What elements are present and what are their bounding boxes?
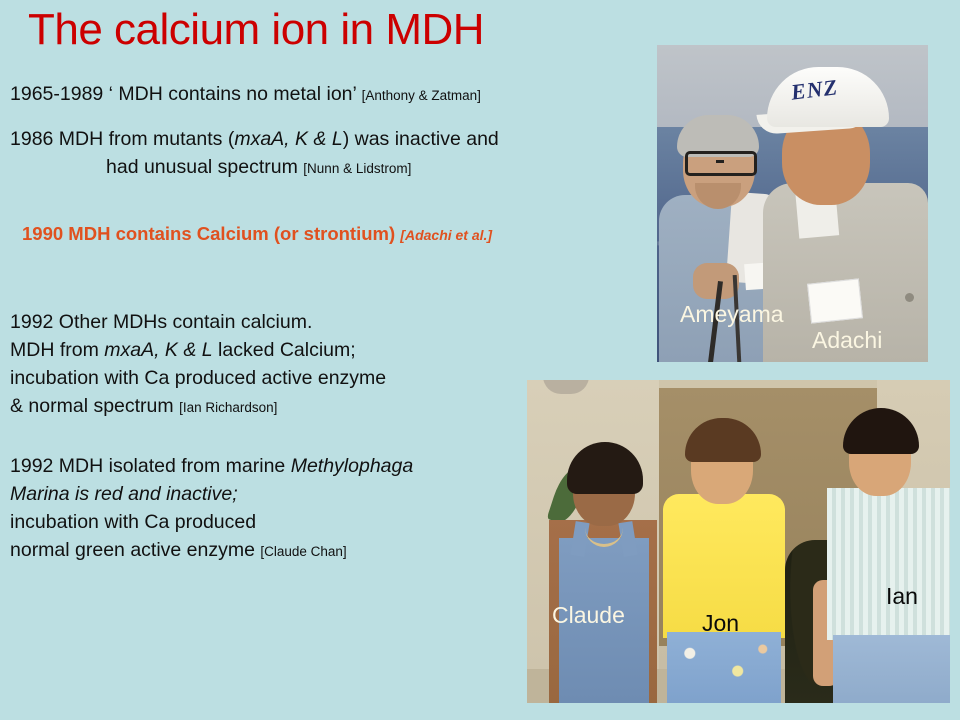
entry-1990-highlight: 1990 MDH contains Calcium (or strontium)… [22,220,492,248]
jon-patterned-shorts [667,632,781,703]
photo-label-ameyama: Ameyama [680,303,784,326]
ian-striped-shirt [827,488,950,640]
entry4-line3: incubation with Ca produced active enzym… [10,364,386,392]
entry-1965-1989: 1965-1989 ‘ MDH contains no metal ion’ [… [10,80,481,108]
entry5-line4: normal green active enzyme [10,539,255,561]
entry1-line1: 1965-1989 ‘ MDH contains no metal ion’ [10,83,356,105]
entry2-reference: [Nunn & Lidstrom] [303,161,411,176]
entry5-reference: [Claude Chan] [260,544,346,559]
entry1-reference: [Anthony & Zatman] [362,88,481,103]
entry5-species-2: Marina is red and inactive; [10,480,413,508]
entry3-text: 1990 MDH contains Calcium (or strontium) [22,223,395,244]
photo-label-ian: Ian [886,585,918,608]
entry-1986: 1986 MDH from mutants (mxaA, K & L) was … [10,125,499,181]
page-title: The calcium ion in MDH [28,4,484,56]
entry3-reference: [Adachi et al.] [400,227,492,243]
entry-1992-other-mdhs: 1992 Other MDHs contain calcium. MDH fro… [10,308,386,420]
adachi-name-badge [807,278,863,323]
slide-canvas: The calcium ion in MDH 1965-1989 ‘ MDH c… [0,0,960,720]
entry-1992-methylophaga: 1992 MDH isolated from marine Methylopha… [10,452,413,564]
photo-claude-jon-ian [527,380,950,703]
adachi-jacket-button [905,293,914,302]
entry5-line1-a: 1992 MDH isolated from marine [10,455,291,477]
entry5-species-1: Methylophaga [291,455,414,477]
entry4-line2-b: lacked Calcium; [213,339,356,361]
photo-label-jon: Jon [702,612,739,635]
entry4-line4: & normal spectrum [10,395,174,417]
photo-label-adachi: Adachi [812,329,882,352]
entry2-gene-names: mxaA, K & L [234,128,342,150]
ian-jeans [833,635,950,703]
entry4-gene-names: mxaA, K & L [104,339,212,361]
entry5-line3: incubation with Ca produced [10,508,413,536]
entry4-line1: 1992 Other MDHs contain calcium. [10,308,386,336]
ameyama-glasses [685,151,757,176]
entry2-line1-a: 1986 MDH from mutants ( [10,128,234,150]
entry2-line1-b: ) was inactive and [343,128,499,150]
entry4-reference: [Ian Richardson] [179,400,277,415]
photo-label-claude: Claude [552,604,625,627]
entry2-line2: had unusual spectrum [106,156,298,178]
entry4-line2-a: MDH from [10,339,104,361]
